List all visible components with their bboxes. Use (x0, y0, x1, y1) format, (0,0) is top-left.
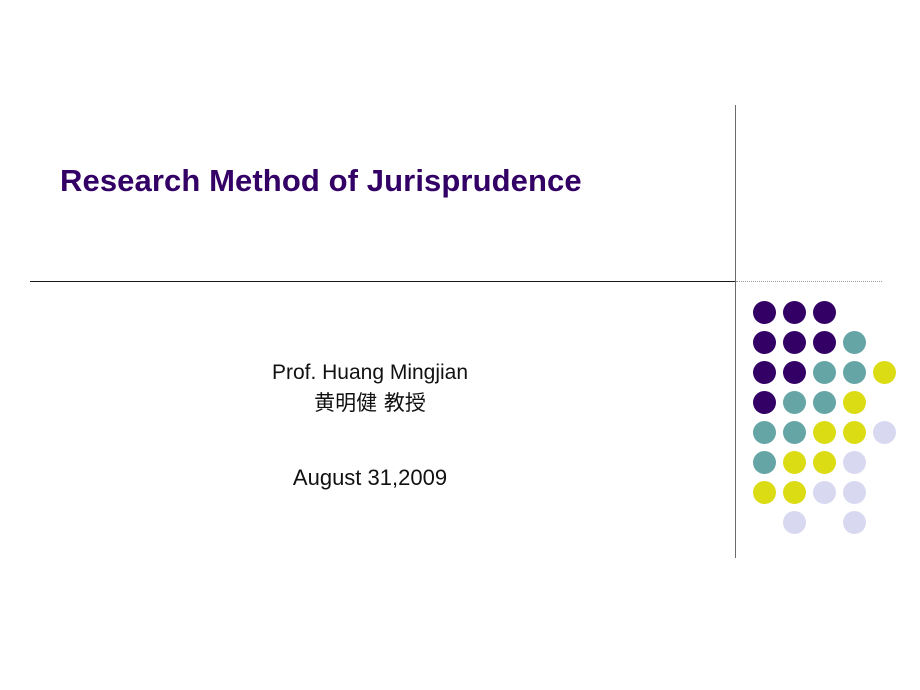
dot-teal (813, 361, 836, 384)
presenter-name: Prof. Huang Mingjian (60, 358, 680, 388)
horizontal-divider-dotted (736, 281, 882, 282)
presenter-name-cjk: 黄明健 教授 (60, 388, 680, 418)
dot-teal (783, 421, 806, 444)
dot-purple (813, 301, 836, 324)
dot-yellow (873, 361, 896, 384)
dot-purple (753, 331, 776, 354)
decorative-dot-grid (753, 301, 893, 541)
dot-teal (753, 421, 776, 444)
dot-yellow (813, 451, 836, 474)
dot-teal (813, 391, 836, 414)
dot-lavender (873, 421, 896, 444)
dot-purple (783, 301, 806, 324)
dot-purple (813, 331, 836, 354)
dot-yellow (843, 391, 866, 414)
dot-teal (843, 361, 866, 384)
dot-yellow (813, 421, 836, 444)
dot-purple (783, 361, 806, 384)
vertical-divider (735, 105, 736, 558)
dot-purple (783, 331, 806, 354)
dot-teal (843, 331, 866, 354)
dot-yellow (783, 451, 806, 474)
dot-purple (753, 361, 776, 384)
dot-yellow (753, 481, 776, 504)
dot-yellow (843, 421, 866, 444)
dot-teal (783, 391, 806, 414)
dot-yellow (783, 481, 806, 504)
dot-purple (753, 301, 776, 324)
dot-lavender (813, 481, 836, 504)
dot-lavender (843, 511, 866, 534)
dot-purple (753, 391, 776, 414)
slide-title: Research Method of Jurisprudence (60, 163, 720, 199)
presentation-slide: Research Method of Jurisprudence Prof. H… (0, 0, 920, 690)
dot-lavender (843, 451, 866, 474)
slide-subtitle-block: Prof. Huang Mingjian 黄明健 教授 August 31,20… (60, 358, 680, 494)
subtitle-spacer (60, 419, 680, 463)
dot-lavender (843, 481, 866, 504)
horizontal-divider-solid (30, 281, 736, 282)
dot-lavender (783, 511, 806, 534)
slide-date: August 31,2009 (60, 463, 680, 494)
dot-teal (753, 451, 776, 474)
